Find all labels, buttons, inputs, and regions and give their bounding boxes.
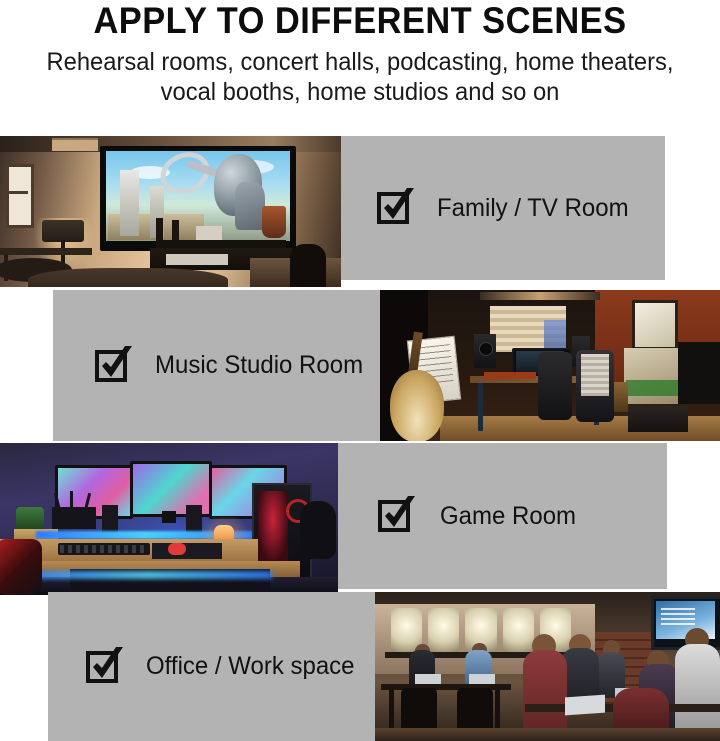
checkmark-icon <box>95 346 135 386</box>
checkbox-group: Music Studio Room <box>95 346 372 386</box>
scene-label: Office / Work space <box>146 652 355 681</box>
scene-label-panel-family-tv-room[interactable]: Family / TV Room <box>341 136 665 280</box>
subtitle-line-1: Rehearsal rooms, concert halls, podcasti… <box>18 47 702 77</box>
scene-photo-music-studio-room <box>380 290 720 441</box>
scene-label: Game Room <box>440 502 576 531</box>
scene-row-music-studio-room: Music Studio Room <box>0 290 720 441</box>
scene-label-panel-office-work-space[interactable]: Office / Work space <box>48 592 375 741</box>
header: APPLY TO DIFFERENT SCENES Rehearsal room… <box>0 0 720 130</box>
scene-row-game-room: Game Room <box>0 443 720 595</box>
scene-label-panel-music-studio-room[interactable]: Music Studio Room <box>53 290 380 441</box>
scene-photo-game-room <box>0 443 338 595</box>
scene-photo-office-work-space <box>375 592 720 741</box>
checkbox-group: Office / Work space <box>86 647 363 687</box>
checkmark-icon <box>86 647 126 687</box>
checkmark-icon <box>377 188 417 228</box>
scene-label-panel-game-room[interactable]: Game Room <box>338 443 667 589</box>
scene-row-office-work-space: Office / Work space <box>0 592 720 741</box>
checkbox-group: Family / TV Room <box>377 188 637 228</box>
scene-photo-family-tv-room <box>0 136 341 287</box>
scene-label: Family / TV Room <box>437 194 629 223</box>
row-left-spacer <box>0 592 48 741</box>
page-subtitle: Rehearsal rooms, concert halls, podcasti… <box>18 41 702 107</box>
scenes-infographic: APPLY TO DIFFERENT SCENES Rehearsal room… <box>0 0 720 741</box>
page-title: APPLY TO DIFFERENT SCENES <box>25 0 695 41</box>
row-left-spacer <box>0 290 53 441</box>
checkbox-group: Game Room <box>378 496 582 536</box>
scene-row-family-tv-room: Family / TV Room <box>0 136 720 287</box>
checkmark-icon <box>378 496 418 536</box>
scene-label: Music Studio Room <box>155 351 363 380</box>
subtitle-line-2: vocal booths, home studios and so on <box>18 77 702 107</box>
